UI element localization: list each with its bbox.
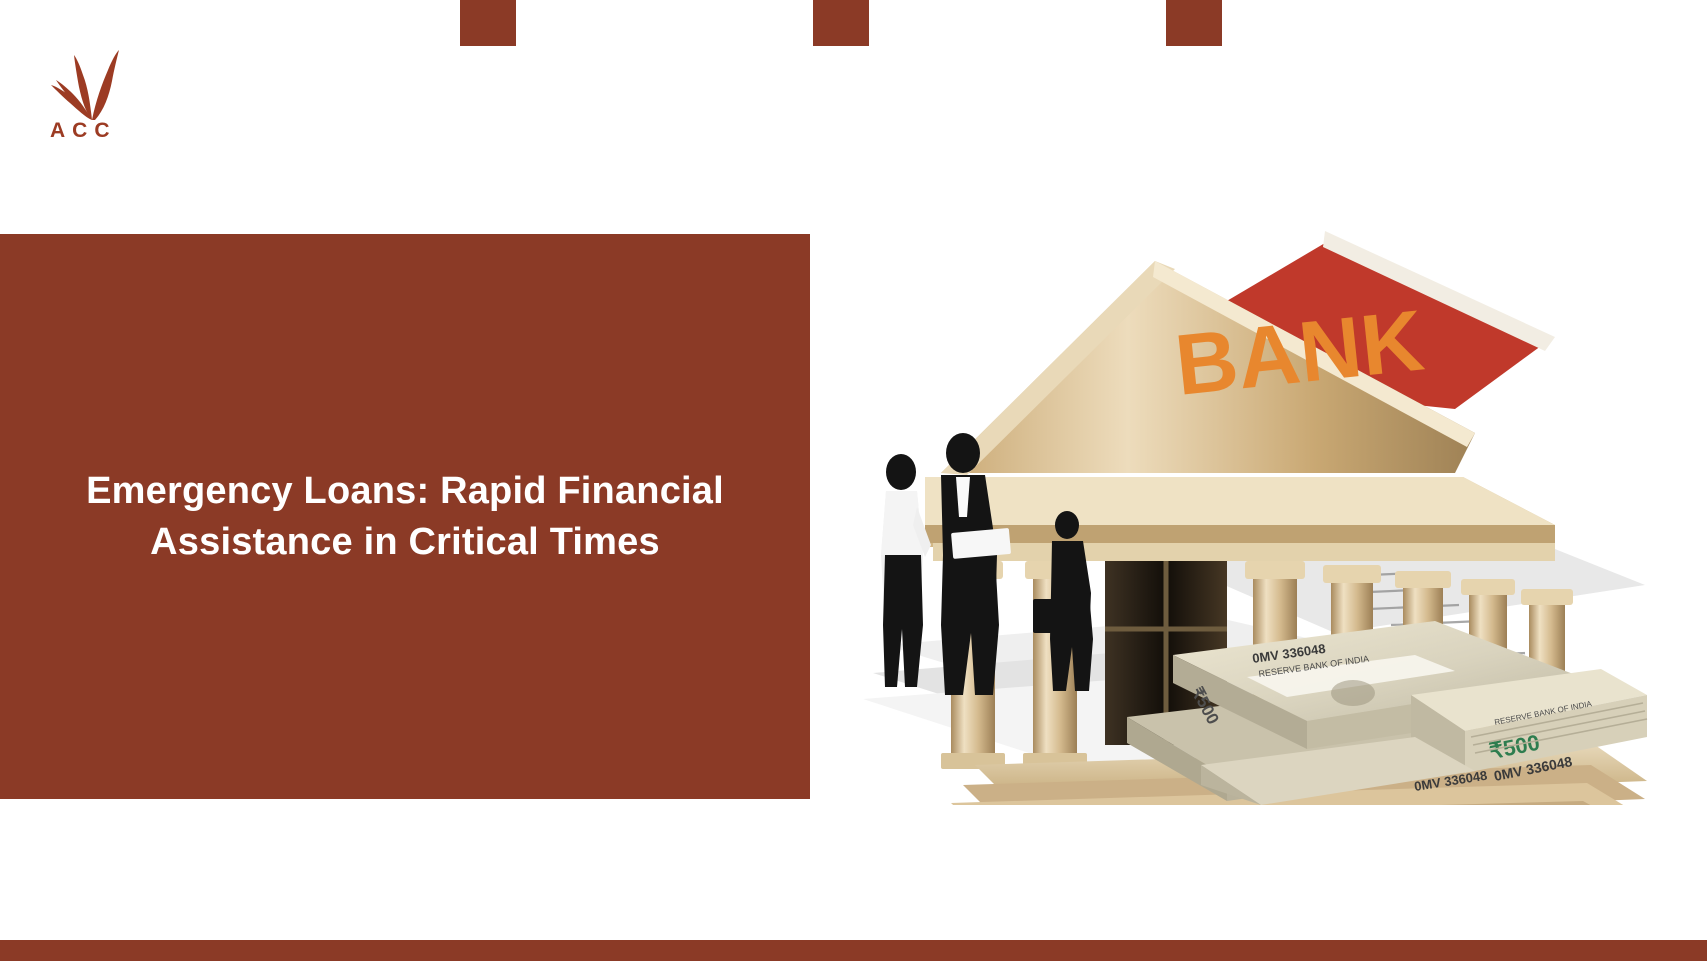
top-accent-bars: [0, 0, 1707, 50]
page-title: Emergency Loans: Rapid Financial Assista…: [70, 466, 740, 566]
top-accent-bar-3: [1166, 0, 1222, 46]
acc-wordmark: ACC: [50, 120, 120, 141]
title-panel: Emergency Loans: Rapid Financial Assista…: [0, 234, 810, 799]
top-accent-bar-1: [460, 0, 516, 46]
bottom-accent-bar: [0, 940, 1707, 961]
flame-leaf-icon: [50, 48, 134, 122]
page-title-line-1: Emergency Loans: Rapid Financial: [86, 470, 724, 512]
slide: ACC Emergency Loans: Rapid Financial Ass…: [0, 0, 1707, 961]
top-accent-bar-2: [813, 0, 869, 46]
bank-entablature: [925, 477, 1555, 561]
bank-illustration: BANK: [855, 225, 1655, 805]
acc-logo: ACC: [50, 48, 134, 148]
page-title-line-2: Assistance in Critical Times: [150, 521, 660, 563]
